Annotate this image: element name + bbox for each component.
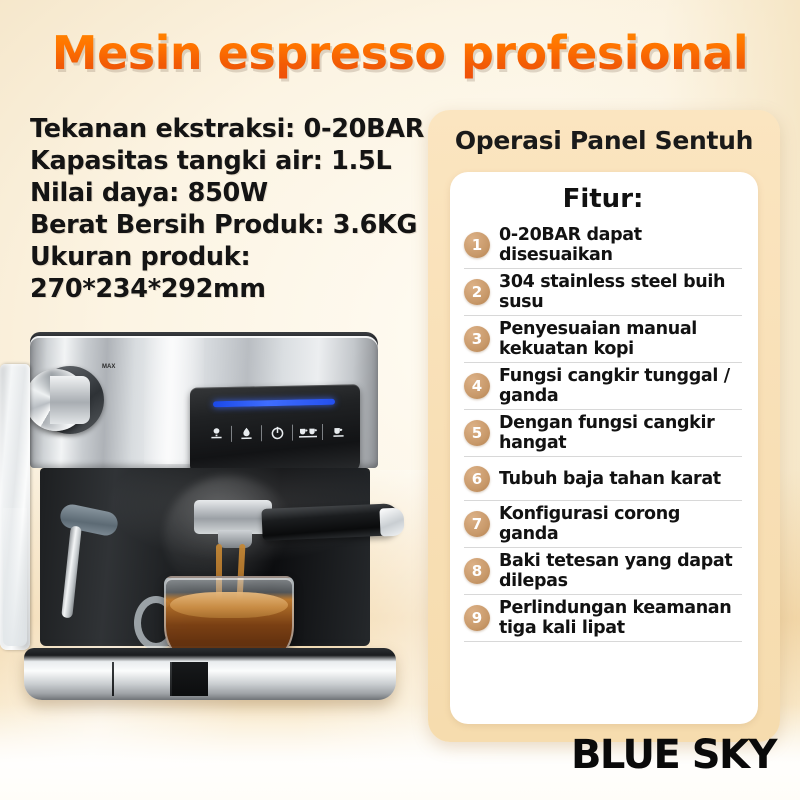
spec-item-weight: Berat Bersih Produk: 3.6KG bbox=[30, 209, 430, 241]
feature-number-badge: 5 bbox=[464, 420, 490, 446]
feature-number-badge: 6 bbox=[464, 466, 490, 492]
steam-icon bbox=[204, 421, 228, 448]
spec-item-size-value: 270*234*292mm bbox=[30, 273, 430, 305]
feature-number-badge: 1 bbox=[464, 232, 490, 258]
feature-label: 304 stainless steel buih susu bbox=[499, 272, 742, 312]
feature-label: Baki tetesan yang dapat dilepas bbox=[499, 551, 742, 591]
page-title: Mesin espresso profesional bbox=[0, 26, 800, 80]
feature-number-badge: 2 bbox=[464, 279, 490, 305]
spec-item-tank: Kapasitas tangki air: 1.5L bbox=[30, 145, 430, 177]
spec-item-pressure: Tekanan ekstraksi: 0-20BAR bbox=[30, 113, 430, 145]
feature-number-badge: 4 bbox=[464, 373, 490, 399]
feature-label: Perlindungan keamanan tiga kali lipat bbox=[499, 598, 742, 638]
feature-item: 7 Konfigurasi corong ganda bbox=[464, 501, 742, 548]
machine-control-panel bbox=[190, 384, 360, 476]
drip-tray-base bbox=[24, 648, 396, 700]
icon-divider bbox=[261, 425, 262, 441]
feature-item: 1 0-20BAR dapat disesuaikan bbox=[464, 222, 742, 269]
icon-divider bbox=[322, 424, 323, 440]
milk-drip-icon bbox=[235, 420, 259, 447]
drip-tray-seam bbox=[112, 662, 114, 696]
steam-knob-stem bbox=[50, 376, 90, 424]
feature-label: Dengan fungsi cangkir hangat bbox=[499, 413, 742, 453]
drip-tray-recess bbox=[172, 662, 208, 696]
touch-control-icons bbox=[204, 416, 350, 449]
knob-max-label: MAX bbox=[102, 364, 115, 370]
feature-item: 6 Tubuh baja tahan karat bbox=[464, 457, 742, 501]
water-tank-level bbox=[3, 508, 27, 646]
feature-item: 2 304 stainless steel buih susu bbox=[464, 269, 742, 316]
feature-label: 0-20BAR dapat disesuaikan bbox=[499, 225, 742, 265]
feature-item: 5 Dengan fungsi cangkir hangat bbox=[464, 410, 742, 457]
feature-number-badge: 8 bbox=[464, 558, 490, 584]
crema-layer bbox=[170, 592, 288, 618]
power-icon bbox=[265, 420, 289, 447]
product-image-espresso-machine: MAX bbox=[0, 318, 414, 738]
group-head-spout bbox=[218, 530, 252, 548]
feature-number-badge: 9 bbox=[464, 605, 490, 631]
feature-label: Penyesuaian manual kekuatan kopi bbox=[499, 319, 742, 359]
panel-heading: Operasi Panel Sentuh bbox=[428, 110, 780, 155]
spec-item-size-label: Ukuran produk: bbox=[30, 241, 430, 273]
icon-divider bbox=[292, 425, 293, 441]
feature-label: Fungsi cangkir tunggal / ganda bbox=[499, 366, 742, 406]
feature-card: Fitur: 1 0-20BAR dapat disesuaikan 2 304… bbox=[450, 172, 758, 724]
brand-logo: BLUE SKY bbox=[571, 732, 776, 778]
single-cup-icon bbox=[326, 418, 350, 445]
led-indicator-bar bbox=[213, 399, 335, 408]
portafilter-end-cap bbox=[379, 508, 404, 537]
feature-panel: Operasi Panel Sentuh Fitur: 1 0-20BAR da… bbox=[428, 110, 780, 742]
icon-divider bbox=[231, 426, 232, 442]
feature-label: Tubuh baja tahan karat bbox=[499, 469, 721, 489]
features-title: Fitur: bbox=[464, 180, 742, 222]
feature-label: Konfigurasi corong ganda bbox=[499, 504, 742, 544]
drip-tray-seam bbox=[170, 662, 172, 696]
feature-item: 8 Baki tetesan yang dapat dilepas bbox=[464, 548, 742, 595]
specification-list: Tekanan ekstraksi: 0-20BAR Kapasitas tan… bbox=[30, 113, 430, 305]
double-cup-icon bbox=[296, 419, 320, 446]
feature-item: 3 Penyesuaian manual kekuatan kopi bbox=[464, 316, 742, 363]
group-head bbox=[194, 500, 272, 534]
feature-number-badge: 7 bbox=[464, 511, 490, 537]
feature-item: 9 Perlindungan keamanan tiga kali lipat bbox=[464, 595, 742, 642]
feature-number-badge: 3 bbox=[464, 326, 490, 352]
spec-item-power: Nilai daya: 850W bbox=[30, 177, 430, 209]
feature-item: 4 Fungsi cangkir tunggal / ganda bbox=[464, 363, 742, 410]
